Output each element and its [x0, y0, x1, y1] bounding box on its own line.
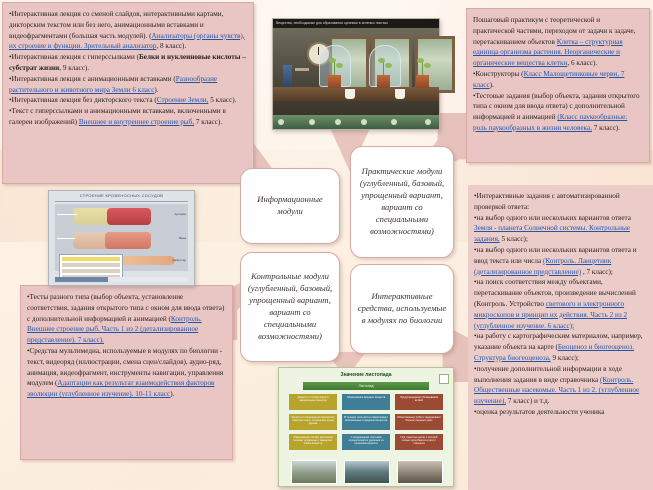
plant-leaf	[336, 63, 343, 68]
slide-canvas: •Интерактивная лекция со сменой слайдов,…	[0, 0, 653, 490]
diagram-column: Сбрасывание вредных веществ В течение ле…	[342, 394, 390, 454]
bottle-object	[283, 65, 292, 87]
cup-object	[395, 89, 405, 99]
module-link[interactable]: Внешнее и внутреннее строение рыб,	[79, 118, 194, 126]
panel-text-line: •на выбор одного или нескольких варианто…	[474, 245, 646, 277]
progress-fill	[55, 277, 108, 282]
toolbar-button-icon[interactable]	[309, 119, 315, 125]
diagram-root-node: Листопад	[303, 382, 429, 390]
logo-icon	[439, 374, 449, 384]
leader-line	[57, 238, 75, 239]
plant-leaf	[378, 58, 385, 63]
diagram-node: В течение лета листья накапливают минера…	[342, 414, 390, 430]
diagram-photo	[397, 460, 443, 484]
panel-text-line: Пошаговый практикум с теоретической и пр…	[473, 15, 642, 69]
flower-pot	[328, 75, 341, 88]
diagram-column: Предупреждение обламывания ветвей Облист…	[395, 394, 443, 454]
diagram-photo	[344, 460, 390, 484]
vessel-label: Артерия	[174, 212, 186, 216]
module-link[interactable]: Земля - планета Солнечной системы. Контр…	[474, 224, 630, 243]
panel-text-line: •на поиск соответствия между объектами, …	[474, 277, 646, 331]
module-title: СТРОЕНИЕ КРОВЕНОСНЫХ СОСУДОВ	[49, 193, 194, 198]
toolbar-button-icon[interactable]	[361, 119, 367, 125]
box-interactive-tools[interactable]: Интерактивные средства, используемые в м…	[350, 264, 454, 354]
box-informational-modules[interactable]: Информационные модули	[240, 168, 340, 244]
module-title: Значение листопада	[279, 372, 453, 378]
toolbar-button-icon[interactable]	[425, 119, 431, 125]
cup-object	[345, 89, 355, 99]
panel-practical-modules: Пошаговый практикум с теоретической и пр…	[466, 8, 650, 163]
vein-cross-section	[105, 232, 151, 249]
panel-text-line: •Интерактивные задания с автоматизирован…	[474, 191, 646, 213]
panel-informational-modules: •Интерактивная лекция со сменой слайдов,…	[2, 2, 254, 184]
panel-text-line: •на работу с картографическим материалом…	[474, 331, 646, 363]
module-toolbar[interactable]	[273, 115, 439, 129]
artery-cross-section	[107, 208, 151, 225]
box-practical-modules[interactable]: Практические модули (углубленный, базовы…	[350, 146, 454, 258]
flower-pot	[377, 75, 390, 88]
panel-text-line: •Тесты разного типа (выбор объекта, уста…	[27, 292, 225, 346]
diagram-node: С опадающими листьями осуществляется уда…	[342, 434, 390, 450]
tap-icon	[295, 68, 309, 71]
diagram-node: Облиственные побеги задерживают больше с…	[395, 414, 443, 430]
panel-text-line: •Конструкторы (Класс Малощетинковые черв…	[473, 69, 642, 91]
panel-text-line: •Интерактивная лекция без дикторского те…	[9, 95, 246, 106]
panel-text-line: •получение дополнительной информации в х…	[474, 364, 646, 407]
diagram-column: Защита от потери влаги и минеральных вещ…	[289, 394, 337, 454]
toolbar-button-icon[interactable]	[335, 119, 341, 125]
window-sill	[273, 87, 439, 101]
plant-leaf	[329, 58, 336, 63]
box-label: Контрольные модули (углубленный, базовый…	[247, 271, 333, 342]
panel-text-line: •Текст с гиперссылками и анимационными в…	[9, 106, 246, 128]
popup-row	[62, 263, 120, 267]
panel-text-line: •Интерактивная лекция с гиперссылками (Б…	[9, 52, 246, 74]
toolbar-button-icon[interactable]	[391, 119, 397, 125]
panel-text-line: •оценка результатов деятельности ученика	[474, 407, 646, 418]
plant-leaf	[385, 63, 392, 68]
greenhouse-module-screenshot[interactable]: Вещества, необходимые для образования ор…	[272, 18, 440, 130]
diagram-node: Защита от повреждения ветвей под тяжесть…	[289, 414, 337, 430]
vessel-label: Капилляр	[172, 258, 186, 262]
diagram-node: Сбрасывание листвы растением снижает исп…	[289, 434, 337, 450]
background-blob	[90, 455, 210, 490]
leader-line	[57, 214, 77, 215]
module-link[interactable]: Строение Земли,	[157, 96, 209, 104]
diagram-photo	[291, 460, 337, 484]
panel-text-line: •Интерактивная лекция со сменой слайдов,…	[9, 9, 246, 52]
flower-pot	[416, 75, 429, 88]
box-control-modules[interactable]: Контрольные модули (углубленный, базовый…	[240, 252, 340, 362]
panel-text-line: •на выбор одного или нескольких варианто…	[474, 213, 646, 245]
popup-row	[62, 257, 120, 261]
module-diagram-area: Артерия Вена Капилляр	[55, 204, 188, 271]
box-label: Практические модули (углубленный, базовы…	[357, 166, 447, 237]
popup-row	[62, 269, 120, 273]
leaf-fall-module-screenshot[interactable]: Значение листопада Листопад Защита от по…	[278, 367, 454, 487]
plant-leaf	[424, 63, 431, 68]
module-caption-bar: Вещества, необходимые для образования ор…	[273, 19, 439, 28]
toolbar-button-icon[interactable]	[278, 119, 284, 125]
divider	[55, 201, 188, 202]
module-progress-bar[interactable]	[55, 277, 188, 282]
diagram-node: Под тяжестью ветви с листвой сильно прог…	[395, 434, 443, 450]
panel-text-line: •Средства мультимедиа, используемые в мо…	[27, 346, 225, 400]
diagram-node: Защита от потери влаги и минеральных вещ…	[289, 394, 337, 410]
plant-leaf	[417, 58, 424, 63]
panel-text-line: •Тестовые задания (выбор объекта, задани…	[473, 91, 642, 134]
box-label: Информационные модули	[247, 194, 333, 218]
panel-control-modules: •Тесты разного типа (выбор объекта, уста…	[20, 285, 233, 460]
box-label: Интерактивные средства, используемые в м…	[357, 291, 447, 327]
panel-text-line: •Интерактивная лекция с анимационными вс…	[9, 74, 246, 96]
panel-interactive-tools: •Интерактивные задания с автоматизирован…	[468, 185, 653, 490]
blood-vessels-module-screenshot[interactable]: СТРОЕНИЕ КРОВЕНОСНЫХ СОСУДОВ Артерия Вен…	[48, 190, 195, 286]
diagram-node: Предупреждение обламывания ветвей	[395, 394, 443, 410]
diagram-node: Сбрасывание вредных веществ	[342, 394, 390, 410]
module-scene	[273, 28, 439, 115]
vessel-label: Вена	[179, 236, 186, 240]
